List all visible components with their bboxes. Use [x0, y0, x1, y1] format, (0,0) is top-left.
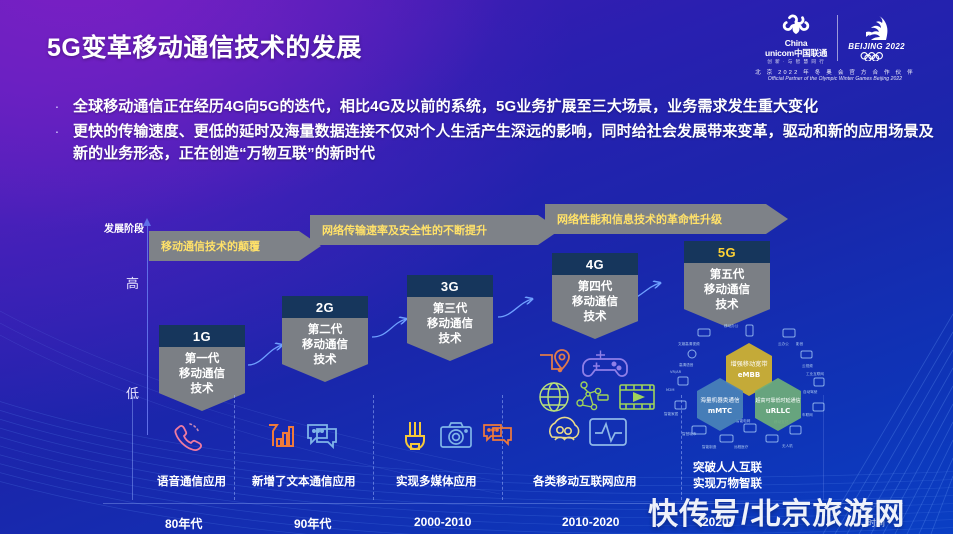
china-unicom-logo: China unicom中国联通 创 新 · 与 智 慧 同 行 [765, 12, 827, 65]
beijing-2022-logo: BEIJING 2022 [848, 15, 905, 61]
gen-name-line: 技术 [686, 298, 768, 313]
gen-name-line: 技术 [409, 332, 491, 347]
icon-group-1g [170, 420, 204, 454]
svg-text:高清语音: 高清语音 [679, 362, 694, 367]
bullet-list: · 全球移动通信正在经历4G向5G的迭代，相比4G及以前的系统，5G业务扩展至三… [52, 96, 940, 168]
generation-box-4g[interactable]: 4G 第四代 移动通信 技术 [552, 253, 638, 339]
bullet-item-2: · 更快的传输速度、更低的延时及海量数据连接不仅对个人生活产生深远的影响，同时给… [52, 121, 940, 165]
social-cloud-icon [550, 417, 579, 440]
light-bulb-icon [400, 418, 430, 452]
phase-arrow-3-label: 网络性能和信息技术的革命性升级 [557, 211, 732, 227]
gen-name-line: 移动通信 [554, 295, 636, 310]
map-pin-icon [540, 350, 569, 371]
y-axis-title: 发展阶段 [104, 220, 144, 235]
application-label-4g: 各类移动互联网应用 [533, 473, 637, 489]
phase-arrow-3: 网络性能和信息技术的革命性升级 [545, 204, 788, 234]
partner-line-cn: 北 京 2022 年 冬 奥 会 官 方 合 作 伙 伴 [729, 68, 941, 76]
bullet-dot-icon: · [52, 96, 62, 118]
logo-group: China unicom中国联通 创 新 · 与 智 慧 同 行 BEIJING… [729, 10, 941, 96]
panel-divider [681, 395, 682, 500]
partner-line-en: Official Partner of the Olympic Winter G… [729, 76, 941, 82]
icon-group-4g [536, 345, 662, 460]
network-nodes-icon [577, 382, 608, 410]
generation-code-1g: 1G [159, 325, 245, 347]
signal-bars-icon [264, 420, 296, 452]
china-unicom-knot-logo [779, 12, 813, 38]
generation-name-3g: 第三代 移动通信 技术 [407, 297, 493, 361]
panel-divider [234, 395, 235, 500]
globe-icon [540, 383, 568, 411]
unicom-en-line2: unicom [765, 48, 794, 58]
generation-box-2g[interactable]: 2G 第二代 移动通信 技术 [282, 296, 368, 382]
chat-bubble-icon [305, 420, 339, 452]
timeline-chart: 发展阶段 高 低 移动通信技术的颠覆 网络传输速率及安全性的不断提升 网络性能和… [0, 205, 953, 534]
gen-name-line: 技术 [554, 310, 636, 325]
svg-text:VR/AR: VR/AR [670, 370, 682, 374]
generation-code-4g: 4G [552, 253, 638, 275]
generation-name-5g: 第五代 移动通信 技术 [684, 263, 770, 327]
generation-name-2g: 第二代 移动通信 技术 [282, 318, 368, 382]
panel-divider [373, 395, 374, 500]
generation-code-3g: 3G [407, 275, 493, 297]
gen-name-line: 第五代 [686, 268, 768, 283]
phase-arrow-1: 移动通信技术的颠覆 [149, 231, 321, 261]
phone-call-icon [170, 420, 204, 454]
heartbeat-monitor-icon [590, 419, 626, 445]
svg-text:M2M: M2M [666, 388, 675, 392]
x-tick-2000-2010: 2000-2010 [414, 515, 471, 529]
bullet-item-1: · 全球移动通信正在经历4G向5G的迭代，相比4G及以前的系统，5G业务扩展至三… [52, 96, 940, 118]
application-label-1g: 语音通信应用 [157, 473, 226, 489]
svg-text:文娱高清视频: 文娱高清视频 [678, 341, 700, 346]
page-title: 5G变革移动通信技术的发展 [47, 28, 362, 64]
bullet-dot-icon: · [52, 121, 62, 165]
arrow-head-icon [766, 204, 788, 234]
svg-text:自动驾驶: 自动驾驶 [803, 389, 818, 394]
gen-name-line: 移动通信 [686, 283, 768, 298]
bullet-text-1: 全球移动通信正在经历4G向5G的迭代，相比4G及以前的系统，5G业务扩展至三大场… [73, 96, 818, 118]
phase-arrow-2-label: 网络传输速率及安全性的不断提升 [322, 222, 497, 238]
application-label-2g: 新增了文本通信应用 [252, 473, 356, 489]
gen-name-line: 移动通信 [161, 367, 243, 382]
logo-divider [837, 15, 838, 61]
slide-root: 5G变革移动通信技术的发展 China unicom中国联通 创 新 · 与 智… [0, 0, 953, 534]
svg-text:影音: 影音 [796, 341, 804, 346]
svg-text:移动办公: 移动办公 [724, 323, 739, 328]
x-tick-90s: 90年代 [294, 515, 331, 532]
x-tick-2010-2020: 2010-2020 [562, 515, 619, 529]
gen-name-line: 第二代 [284, 323, 366, 338]
gen-name-line: 第一代 [161, 352, 243, 367]
icon-group-2g [264, 420, 339, 452]
generation-box-3g[interactable]: 3G 第三代 移动通信 技术 [407, 275, 493, 361]
gen-name-line: 技术 [284, 353, 366, 368]
svg-text:云视频: 云视频 [802, 363, 813, 368]
phase-arrow-1-label: 移动通信技术的颠覆 [161, 238, 270, 254]
generation-box-5g[interactable]: 5G 第五代 移动通信 技术 [684, 241, 770, 327]
bullet-text-2: 更快的传输速度、更低的延时及海量数据连接不仅对个人生活产生深远的影响，同时给社会… [73, 121, 940, 165]
unicom-en-line1: China [785, 38, 808, 48]
unicom-slogan: 创 新 · 与 智 慧 同 行 [767, 59, 825, 65]
y-axis-tick-high: 高 [126, 273, 139, 292]
gen-name-line: 第三代 [409, 302, 491, 317]
game-controller-icon [583, 351, 627, 377]
svg-text:工业互联网: 工业互联网 [806, 371, 824, 376]
application-label-5g: 突破人人互联 实现万物智联 [693, 460, 762, 492]
application-label-3g: 实现多媒体应用 [396, 473, 477, 489]
chat-bubble-orange-icon [482, 420, 514, 450]
camera-icon [439, 420, 473, 450]
unicom-cn: 中国联通 [794, 48, 827, 58]
svg-text:云办公: 云办公 [778, 341, 789, 346]
olympic-rings-icon [859, 52, 895, 61]
watermark: 快传号/北京旅游网 [648, 489, 905, 533]
generation-name-4g: 第四代 移动通信 技术 [552, 275, 638, 339]
video-player-icon [620, 385, 654, 409]
x-tick-80s: 80年代 [165, 515, 202, 532]
gen-name-line: 第四代 [554, 280, 636, 295]
beijing-2022-text: BEIJING 2022 [848, 42, 905, 51]
phase-arrow-2: 网络传输速率及安全性的不断提升 [310, 215, 560, 245]
icon-group-3g [400, 418, 514, 452]
gen-name-line: 移动通信 [409, 317, 491, 332]
generation-code-2g: 2G [282, 296, 368, 318]
svg-text:eMBB: eMBB [738, 371, 760, 379]
svg-text:增强移动宽带: 增强移动宽带 [730, 360, 767, 368]
generation-code-5g: 5G [684, 241, 770, 263]
gen-name-line: 移动通信 [284, 338, 366, 353]
application-label-5g-line1: 突破人人互联 [693, 460, 762, 476]
beijing-2022-emblem [862, 15, 892, 41]
